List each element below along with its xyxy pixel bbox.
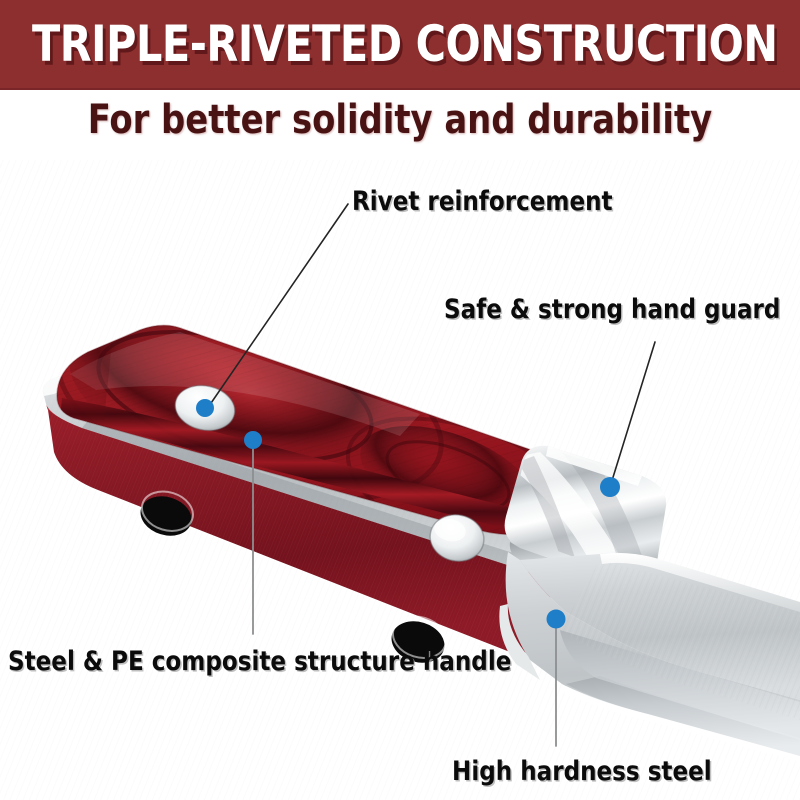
callout-label-high-hardness-steel: High hardness steel [452, 758, 712, 785]
product-illustration [0, 160, 800, 800]
callout-label-composite-handle: Steel & PE composite structure handle [8, 648, 511, 675]
dot-composite-handle [244, 431, 262, 449]
dot-rivet [196, 399, 214, 417]
header-banner: TRIPLE-RIVETED CONSTRUCTION [0, 0, 800, 88]
callout-label-hand-guard: Safe & strong hand guard [444, 296, 780, 323]
dot-hand-guard [600, 477, 620, 497]
page-title: TRIPLE-RIVETED CONSTRUCTION [32, 19, 768, 69]
banner-divider [0, 88, 800, 90]
dot-high-hardness-steel [547, 610, 566, 629]
callout-label-rivet-reinforcement: Rivet reinforcement [352, 188, 613, 215]
infographic-page: TRIPLE-RIVETED CONSTRUCTION For better s… [0, 0, 800, 800]
page-subtitle: For better solidity and durability [24, 98, 776, 142]
